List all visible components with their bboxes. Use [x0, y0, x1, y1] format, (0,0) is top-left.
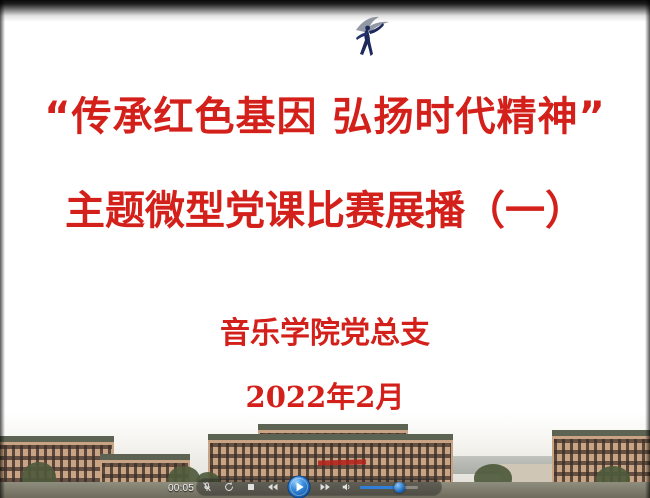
current-time-label: 00:05: [168, 483, 194, 494]
volume-slider-handle[interactable]: [394, 482, 405, 493]
slide-title-line-1: “传承红色基因 弘扬时代精神”: [0, 92, 650, 142]
volume-icon[interactable]: [336, 478, 358, 496]
volume-slider[interactable]: [358, 478, 420, 496]
video-player-stage: “传承红色基因 弘扬时代精神” 主题微型党课比赛展播（一） 音乐学院党总支 20…: [0, 0, 650, 498]
fast-forward-icon[interactable]: [314, 478, 336, 496]
play-icon[interactable]: [286, 474, 312, 498]
slide-title-block: “传承红色基因 弘扬时代精神” 主题微型党课比赛展播（一） 音乐学院党总支 20…: [0, 92, 650, 416]
mute-microphone-icon[interactable]: [196, 478, 218, 496]
replay-loop-icon[interactable]: [218, 478, 240, 496]
slide-title-line-2: 主题微型党课比赛展播（一）: [0, 186, 650, 236]
player-control-bar[interactable]: [196, 478, 442, 496]
stop-icon[interactable]: [240, 478, 262, 496]
rewind-icon[interactable]: [262, 478, 284, 496]
slide-date: 2022年2月: [0, 374, 650, 416]
slide-organization: 音乐学院党总支: [0, 308, 650, 352]
top-vignette: [0, 0, 650, 22]
